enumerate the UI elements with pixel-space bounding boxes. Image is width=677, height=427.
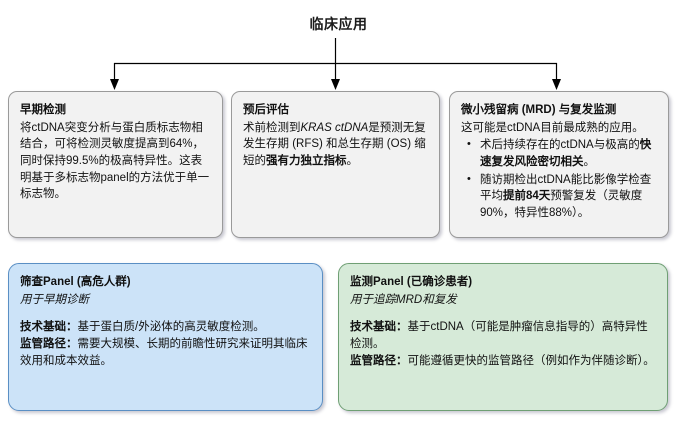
node-early-detection-body: 将ctDNA突变分析与蛋白质标志物相结合，可将检测灵敏度提高到64%，同时保持9… [20,120,211,203]
prognosis-text-bold: 强有力独立指标 [266,155,347,167]
prognosis-text-italic: KRAS ctDNA [301,122,369,134]
node-early-detection-title: 早期检测 [20,102,211,119]
diagram-title: 临床应用 [0,14,677,34]
monitoring-panel-row-reg: 监管路径：可能遵循更快的监管路径（例如作为伴随诊断）。 [350,353,656,370]
monitoring-panel-row-reg-label: 监管路径： [350,355,408,367]
screening-panel-row-tech: 技术基础：基于蛋白质/外泌体的高灵敏度检测。 [20,319,311,336]
monitoring-panel-row-tech-label: 技术基础： [350,321,408,333]
node-mrd-bullet-list: 术后持续存在的ctDNA与极高的快速复发风险密切相关。 随访期检出ctDNA能比… [461,137,657,221]
node-early-detection[interactable]: 早期检测 将ctDNA突变分析与蛋白质标志物相结合，可将检测灵敏度提高到64%，… [8,91,223,238]
node-prognosis-title: 预后评估 [243,102,428,119]
spacer [350,308,656,319]
node-screening-panel[interactable]: 筛查Panel (高危人群) 用于早期诊断 技术基础：基于蛋白质/外泌体的高灵敏… [8,263,323,411]
mrd-bullet-0-text-1: 术后持续存在的ctDNA与极高的 [480,139,640,151]
node-mrd-recurrence-monitoring[interactable]: 微小残留病 (MRD) 与复发监测 这可能是ctDNA目前最成熟的应用。 术后持… [449,91,669,238]
list-item: 术后持续存在的ctDNA与极高的快速复发风险密切相关。 [480,137,657,170]
node-mrd-intro: 这可能是ctDNA目前最成熟的应用。 [461,120,657,137]
diagram-canvas: 临床应用 早期检测 将ctDNA突变分析与蛋白质标志物相结合，可将检测灵敏度提高… [0,0,677,427]
mrd-bullet-1-bold: 提前84天 [503,190,550,202]
screening-panel-row-tech-label: 技术基础： [20,321,78,333]
node-mrd-title: 微小残留病 (MRD) 与复发监测 [461,102,657,119]
screening-panel-subtitle: 用于早期诊断 [20,292,311,309]
monitoring-panel-row-reg-value: 可能遵循更快的监管路径（例如作为伴随诊断）。 [408,355,655,367]
prognosis-text-3: 。 [347,155,359,167]
monitoring-panel-row-tech: 技术基础：基于ctDNA（可能是肿瘤信息指导的）高特异性检测。 [350,319,656,352]
mrd-bullet-0-text-2: 。 [584,156,596,168]
screening-panel-title: 筛查Panel (高危人群) [20,274,311,291]
screening-panel-row-reg-label: 监管路径： [20,338,78,350]
monitoring-panel-subtitle: 用于追踪MRD和复发 [350,292,656,309]
screening-panel-row-tech-value: 基于蛋白质/外泌体的高灵敏度检测。 [78,321,265,333]
spacer [20,308,311,319]
screening-panel-row-reg: 监管路径：需要大规模、长期的前瞻性研究来证明其临床效用和成本效益。 [20,336,311,369]
monitoring-panel-title: 监测Panel (已确诊患者) [350,274,656,291]
list-item: 随访期检出ctDNA能比影像学检查平均提前84天预警复发（灵敏度90%，特异性8… [480,172,657,222]
prognosis-text-1: 术前检测到 [243,122,301,134]
node-prognosis-assessment[interactable]: 预后评估 术前检测到KRAS ctDNA是预测无复发生存期 (RFS) 和总生存… [231,91,440,238]
node-monitoring-panel[interactable]: 监测Panel (已确诊患者) 用于追踪MRD和复发 技术基础：基于ctDNA（… [338,263,668,411]
node-prognosis-body: 术前检测到KRAS ctDNA是预测无复发生存期 (RFS) 和总生存期 (OS… [243,120,428,170]
